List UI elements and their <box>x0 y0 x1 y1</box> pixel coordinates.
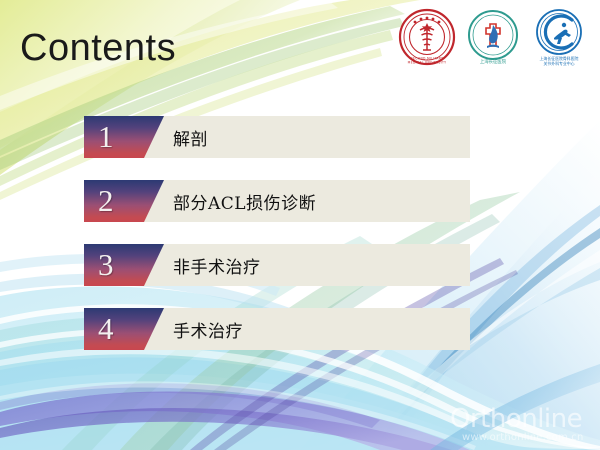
contents-item-label: 解剖 <box>173 116 208 158</box>
contents-item-2[interactable]: 2 部分ACL损伤诊断 <box>84 180 474 222</box>
contents-item-number: 3 <box>98 247 114 283</box>
svg-text:关节外科专业中心: 关节外科专业中心 <box>543 61 574 66</box>
contents-item-label: 手术治疗 <box>173 308 243 350</box>
contents-item-4[interactable]: 4 手术治疗 <box>84 308 474 350</box>
contents-item-number: 1 <box>98 119 114 155</box>
contents-item-3[interactable]: 3 非手术治疗 <box>84 244 474 286</box>
contents-item-label: 非手术治疗 <box>173 244 261 286</box>
watermark-name: Orthonline <box>450 404 582 434</box>
watermark-url: www.orthonline.com.cn <box>462 432 584 443</box>
shanghai-changzheng-hospital-logo: 上海长征医院 <box>462 6 524 68</box>
second-military-medical-university-logo: SECOND MILITARY MEDICAL UNIVERSITY <box>396 6 458 68</box>
svg-text:MEDICAL UNIVERSITY: MEDICAL UNIVERSITY <box>408 61 447 65</box>
sports-medicine-center-logo: 上海长征医院骨科医院 关节外科专业中心 <box>528 6 590 68</box>
contents-item-label: 部分ACL损伤诊断 <box>173 180 316 222</box>
watermark: Orthonline www.orthonline.com.cn <box>450 404 598 446</box>
contents-item-number: 2 <box>98 183 114 219</box>
page-title: Contents <box>20 29 176 67</box>
contents-item-number: 4 <box>98 311 114 347</box>
logo-group: SECOND MILITARY MEDICAL UNIVERSITY 上海长征医… <box>396 6 594 70</box>
slide-canvas: Contents <box>0 0 600 450</box>
contents-list: 1 解剖 2 部分ACL损伤诊断 3 非手术治疗 4 手术治疗 <box>84 116 474 350</box>
contents-item-1[interactable]: 1 解剖 <box>84 116 474 158</box>
svg-text:上海长征医院: 上海长征医院 <box>480 58 507 65</box>
